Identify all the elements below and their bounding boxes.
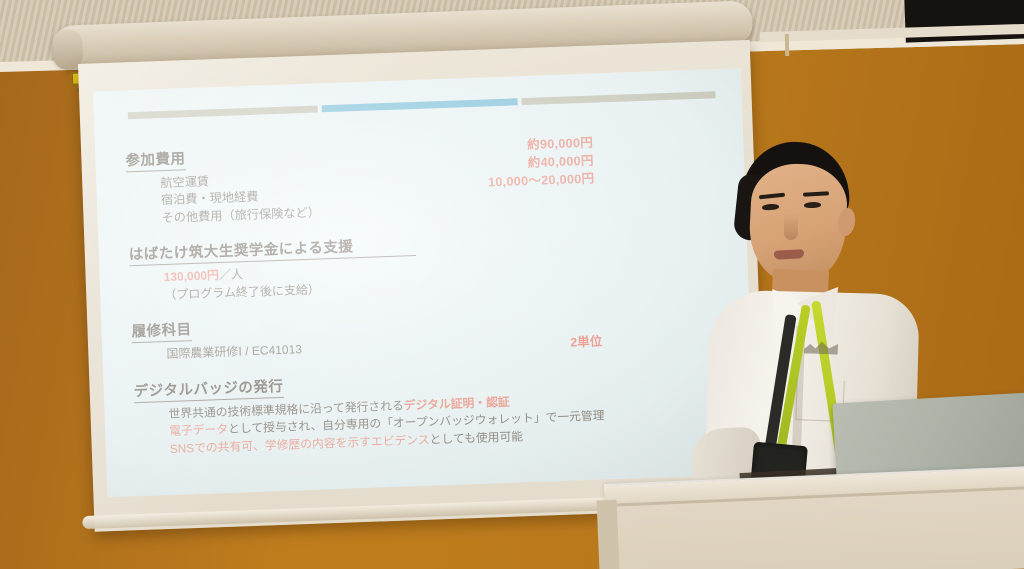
section-digital-badge: デジタルバッジの発行 世界共通の技術標準規格に沿って発行されるデジタル証明・認証… [133, 361, 735, 460]
slide-accent-bar [128, 91, 716, 119]
course-rows: 国際農業研修Ⅰ / EC41013 2単位 [166, 326, 732, 364]
section-costs-heading: 参加費用 [125, 150, 186, 172]
wall-bracket [785, 34, 789, 56]
scholarship-amount: 130,000円 [163, 268, 219, 284]
accent-bar-segment-middle [322, 98, 518, 112]
costs-price-column: 約90,000円 約40,000円 10,000〜20,000円 [393, 134, 595, 195]
section-course-heading: 履修科目 [131, 321, 192, 343]
accent-bar-segment-right [522, 91, 716, 105]
screenshot-root: CAUTION 参加費用 航空運賃 [0, 0, 1024, 569]
slide-content: 参加費用 航空運賃 宿泊費・現地経費 その他費用（旅行保険など） 約9 [125, 131, 736, 473]
presenter-nose [784, 214, 798, 240]
podium [604, 468, 1024, 569]
badge-line-2-highlight: 電子データ [169, 422, 228, 438]
scholarship-amount-suffix: ／人 [219, 267, 244, 282]
presenter-face [747, 162, 849, 285]
section-digital-badge-heading: デジタルバッジの発行 [133, 377, 283, 402]
presenter-mouth [774, 249, 804, 260]
cost-label-airfare: 航空運賃 [160, 174, 209, 193]
section-costs: 参加費用 航空運賃 宿泊費・現地経費 その他費用（旅行保険など） 約9 [125, 131, 727, 229]
course-name: 国際農業研修Ⅰ / EC41013 [166, 326, 732, 364]
accent-bar-segment-left [128, 105, 318, 119]
section-course: 履修科目 国際農業研修Ⅰ / EC41013 2単位 [131, 302, 732, 365]
section-scholarship: はばたけ筑大生奨学金による支援 130,000円／人 （プログラム終了後に支給） [129, 225, 731, 305]
podium-left-side [597, 500, 620, 569]
badge-line-1-highlight: デジタル証明・認証 [404, 394, 510, 412]
presentation-slide: 参加費用 航空運賃 宿泊費・現地経費 その他費用（旅行保険など） 約9 [93, 68, 755, 497]
badge-line-3-plain-suffix: としても使用可能 [429, 429, 523, 446]
projector-screen: 参加費用 航空運賃 宿泊費・現地経費 その他費用（旅行保険など） 約9 [78, 40, 766, 532]
course-credits: 2単位 [570, 331, 603, 351]
